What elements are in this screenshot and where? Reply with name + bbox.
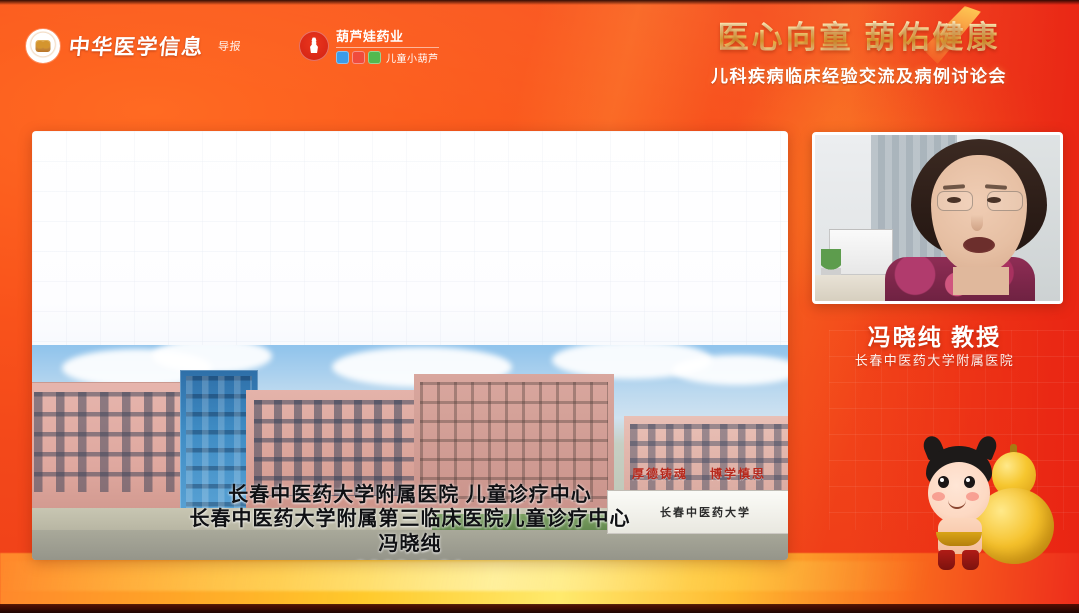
cma-logo-suffix: 导报 bbox=[217, 38, 242, 54]
mascot-boot bbox=[938, 550, 955, 570]
huluwa-logo-tagline: 儿童小葫芦 bbox=[386, 50, 439, 65]
huluwa-mascot-graphic bbox=[916, 440, 1066, 580]
speaker-eye bbox=[947, 197, 961, 203]
color-chip-green-icon bbox=[368, 51, 381, 64]
campus-red-slogan-banner: 厚德铸魂 博学慎思 bbox=[632, 465, 766, 482]
speaker-video-feed[interactable] bbox=[812, 132, 1063, 304]
event-subtitle: 儿科疾病临床经验交流及病例讨论会 bbox=[659, 62, 1059, 87]
cma-logo-wordmark: 中华医学信息 bbox=[67, 31, 205, 61]
slide-faint-grid bbox=[32, 131, 788, 381]
huluwa-logo-line1: 葫芦娃药业 bbox=[336, 26, 439, 45]
color-chip-blue-icon bbox=[336, 51, 349, 64]
red-slogan-left: 厚德铸魂 bbox=[632, 465, 688, 482]
speaker-nose bbox=[971, 215, 983, 231]
event-main-title: 医心向童 葫佑健康 bbox=[659, 12, 1059, 57]
slide-subtitle-block: 长春中医药大学附属医院 儿童诊疗中心 长春中医药大学附属第三临床医院儿童诊疗中心… bbox=[32, 483, 788, 560]
event-title-banner: 医心向童 葫佑健康 儿科疾病临床经验交流及病例讨论会 bbox=[659, 12, 1059, 87]
speaker-name-label: 冯晓纯 教授 bbox=[812, 318, 1057, 352]
color-chip-red-icon bbox=[352, 51, 365, 64]
mascot-eye bbox=[964, 476, 975, 488]
huluwa-logo-text: 葫芦娃药业 儿童小葫芦 bbox=[336, 26, 439, 65]
header-logo-row: 中华医学信息 导报 葫芦娃药业 儿童小葫芦 bbox=[26, 26, 439, 65]
mascot-eye bbox=[938, 476, 949, 488]
speaker-face bbox=[931, 155, 1027, 273]
presentation-slide[interactable]: 儿童用药现状及未来趋势 厚德铸魂 博学慎思 长春中医药大学 bbox=[32, 131, 788, 560]
bottom-letterbox bbox=[0, 604, 1079, 613]
logo-huluwa-pharma: 葫芦娃药业 儿童小葫芦 bbox=[299, 26, 439, 65]
mascot-child-figure bbox=[916, 446, 1008, 574]
slide-date: 2023.6.21 bbox=[32, 556, 788, 560]
gourd-badge-icon bbox=[299, 31, 329, 61]
speaker-mouth bbox=[963, 237, 995, 253]
top-vignette bbox=[0, 0, 1079, 5]
speaker-head bbox=[911, 139, 1047, 289]
cma-seal-icon bbox=[26, 29, 60, 63]
slide-subtitle-line-1: 长春中医药大学附属医院 儿童诊疗中心 bbox=[32, 483, 788, 507]
huluwa-logo-line2: 儿童小葫芦 bbox=[336, 50, 439, 65]
red-slogan-right: 博学慎思 bbox=[710, 465, 766, 482]
speaker-organization-label: 长春中医药大学附属医院 bbox=[812, 350, 1057, 369]
broadcast-stage: 中华医学信息 导报 葫芦娃药业 儿童小葫芦 医心向童 葫佑健康 儿科疾病临床经验… bbox=[0, 0, 1079, 613]
logo-chinese-medical-association: 中华医学信息 导报 bbox=[26, 29, 241, 63]
mascot-boot bbox=[962, 550, 979, 570]
huluwa-logo-divider bbox=[336, 47, 439, 48]
cloud-shape bbox=[672, 355, 788, 385]
mascot-leaf-skirt bbox=[936, 532, 982, 546]
slide-subtitle-line-2: 长春中医药大学附属第三临床医院儿童诊疗中心 bbox=[32, 507, 788, 531]
slide-presenter-name: 冯晓纯 bbox=[32, 532, 788, 556]
speaker-neck bbox=[953, 267, 1009, 295]
mascot-cheek-blush bbox=[966, 492, 979, 501]
speaker-eye bbox=[987, 197, 1001, 203]
mascot-cheek-blush bbox=[932, 492, 945, 501]
